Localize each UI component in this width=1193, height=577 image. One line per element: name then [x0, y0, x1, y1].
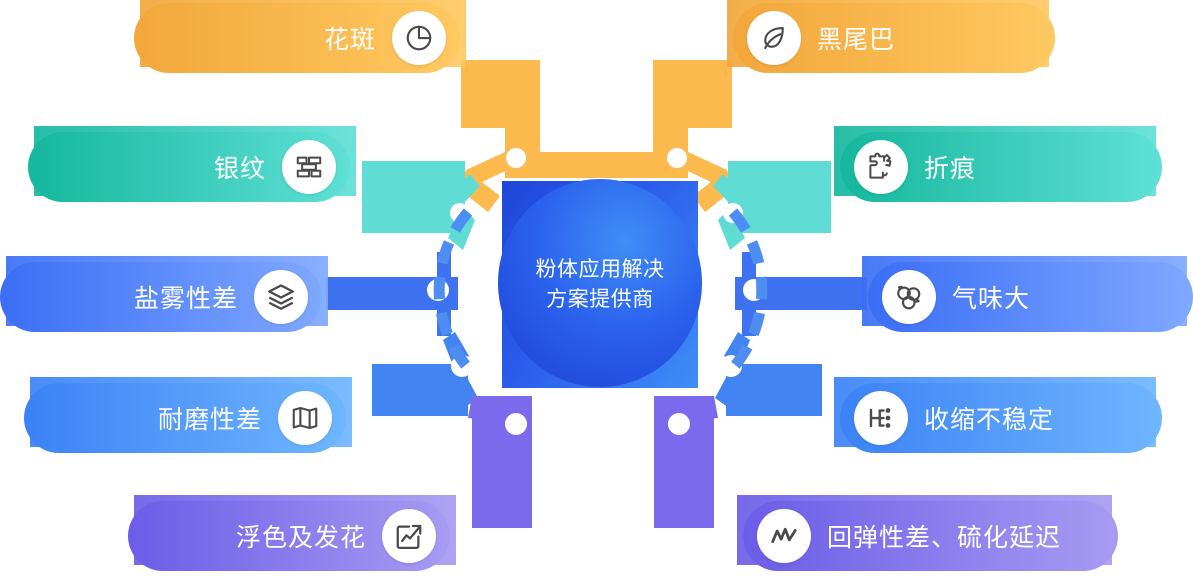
line-chart-icon — [757, 509, 811, 563]
brick-wall-icon — [282, 140, 336, 194]
connector-group-blue2-right — [715, 332, 822, 416]
center-node: 粉体应用解决 方案提供商 — [502, 181, 698, 388]
connector-group-teal-left — [362, 161, 480, 250]
pie-chart-icon — [392, 11, 446, 65]
node-label: 花斑 — [324, 20, 376, 56]
node-label: 气味大 — [952, 279, 1030, 315]
node-pill-yin-wen[interactable]: 银纹 — [28, 132, 350, 202]
node-pill-hua-ban[interactable]: 花斑 — [134, 3, 460, 73]
node-pill-body: 折痕 — [840, 132, 1162, 202]
node-pill-body: 黑尾巴 — [733, 3, 1055, 73]
node-pill-body: 耐磨性差 — [24, 383, 346, 453]
node-pill-nai-mo-xing-cha[interactable]: 耐磨性差 — [24, 383, 346, 453]
node-pill-body: 浮色及发花 — [128, 501, 450, 571]
connector-group-purple-right — [654, 396, 718, 528]
node-pill-body: 银纹 — [28, 132, 350, 202]
book-map-icon — [278, 391, 332, 445]
node-label: 回弹性差、硫化延迟 — [827, 518, 1061, 554]
infographic-diagram: 粉体应用解决 方案提供商 花斑黑尾巴银纹折痕盐雾性差气味大耐磨性差收缩不稳定浮色… — [0, 0, 1193, 577]
recycle-icon — [882, 270, 936, 324]
node-pill-body: 气味大 — [868, 262, 1193, 332]
node-pill-zhe-hen[interactable]: 折痕 — [840, 132, 1162, 202]
node-pill-body: 收缩不稳定 — [840, 383, 1162, 453]
node-pill-body: 盐雾性差 — [0, 262, 322, 332]
layers-icon — [254, 270, 308, 324]
puzzle-icon — [854, 140, 908, 194]
center-title: 粉体应用解决 方案提供商 — [502, 181, 698, 388]
node-label: 浮色及发花 — [236, 518, 366, 554]
connector-group-purple-left — [468, 396, 532, 528]
node-pill-shou-suo-bu-wen-ding[interactable]: 收缩不稳定 — [840, 383, 1162, 453]
node-label: 黑尾巴 — [817, 20, 895, 56]
node-pill-yan-wu-xing-cha[interactable]: 盐雾性差 — [0, 262, 322, 332]
node-label: 收缩不稳定 — [924, 400, 1054, 436]
node-label: 耐磨性差 — [158, 400, 262, 436]
leaf-icon — [747, 11, 801, 65]
node-pill-hei-wei-ba[interactable]: 黑尾巴 — [733, 3, 1055, 73]
node-label: 盐雾性差 — [134, 279, 238, 315]
node-label: 折痕 — [924, 149, 976, 185]
node-pill-body: 花斑 — [134, 3, 460, 73]
connector-group-teal-right — [713, 161, 831, 250]
trend-box-icon — [382, 509, 436, 563]
node-pill-hui-tan-xing-cha[interactable]: 回弹性差、硫化延迟 — [743, 501, 1118, 571]
node-pill-qi-wei-da[interactable]: 气味大 — [868, 262, 1193, 332]
node-label: 银纹 — [214, 149, 266, 185]
node-pill-fu-se-ji-fa-hua[interactable]: 浮色及发花 — [128, 501, 450, 571]
connector-group-blue2-left — [372, 332, 478, 416]
sitemap-icon — [854, 391, 908, 445]
node-pill-body: 回弹性差、硫化延迟 — [743, 501, 1118, 571]
